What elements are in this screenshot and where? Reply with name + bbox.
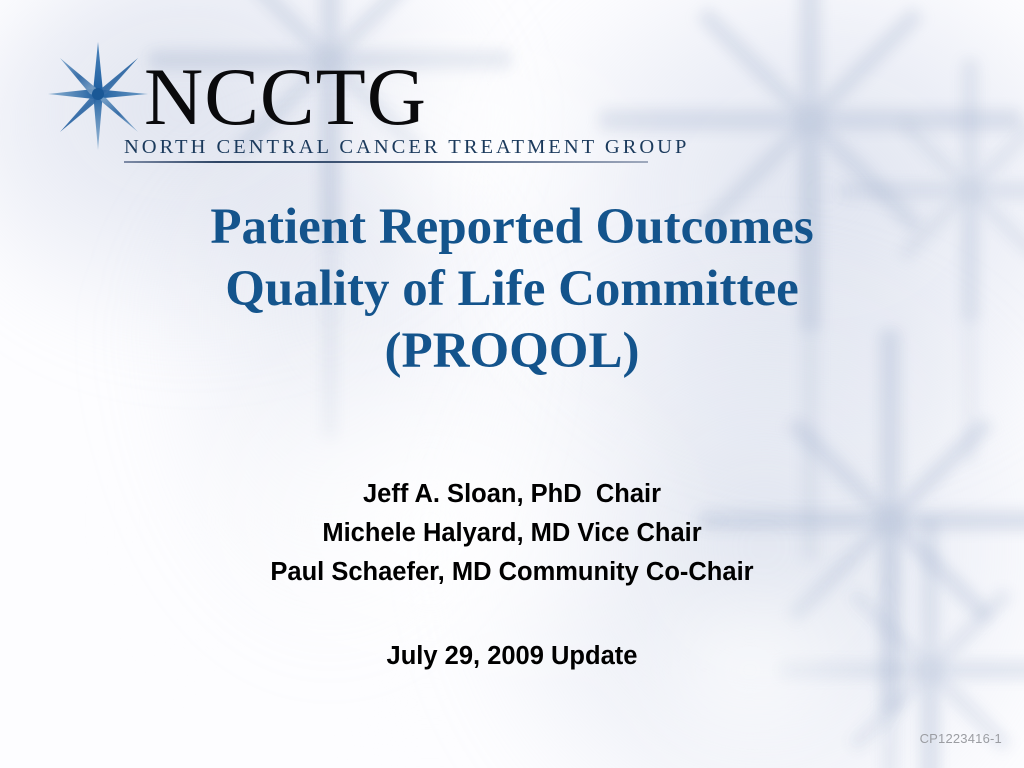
ncctg-tagline: NORTH CENTRAL CANCER TREATMENT GROUP (124, 136, 689, 158)
presentation-slide: NCCTG NORTH CENTRAL CANCER TREATMENT GRO… (0, 0, 1024, 768)
title-line-1: Patient Reported Outcomes (72, 196, 952, 258)
update-date-block: July 29, 2009 Update (112, 640, 912, 672)
roster-line-vice-chair: Michele Halyard, MD Vice Chair (112, 514, 912, 553)
roster-line-chair: Jeff A. Sloan, PhD Chair (112, 475, 912, 514)
title-line-2: Quality of Life Committee (72, 258, 952, 320)
document-control-code: CP1223416-1 (920, 731, 1002, 747)
roster-line-community-co-chair: Paul Schaefer, MD Community Co-Chair (112, 553, 912, 592)
committee-roster: Jeff A. Sloan, PhD Chair Michele Halyard… (112, 475, 912, 592)
ncctg-wordmark: NCCTG (144, 56, 427, 138)
logo-divider-rule (124, 161, 648, 163)
slide-title: Patient Reported Outcomes Quality of Lif… (72, 196, 952, 382)
title-line-3: (PROQOL) (72, 320, 952, 382)
update-date: July 29, 2009 Update (112, 640, 912, 672)
ncctg-logo: NCCTG NORTH CENTRAL CANCER TREATMENT GRO… (38, 34, 658, 174)
